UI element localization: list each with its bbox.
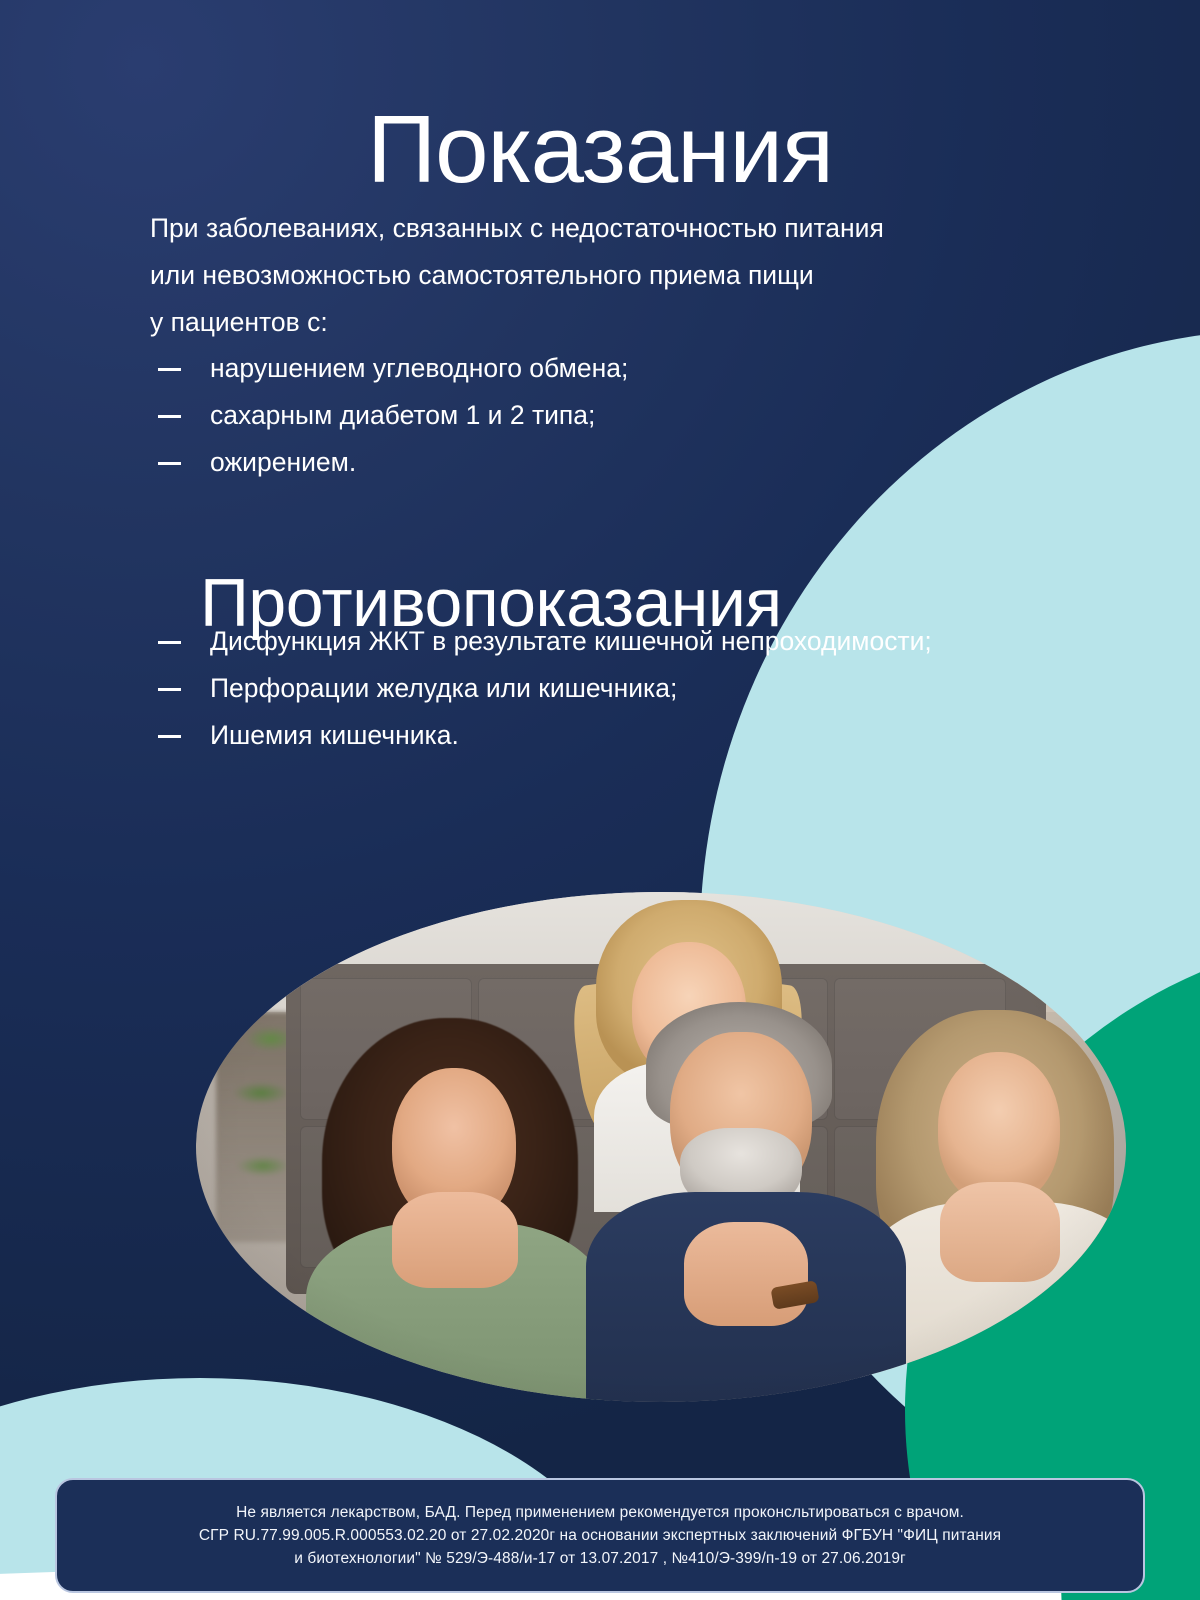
dash-bullet-icon	[158, 415, 181, 418]
dash-bullet-icon	[158, 462, 181, 465]
list-item-label: ожирением.	[210, 447, 356, 477]
list-item: Ишемия кишечника.	[150, 712, 1050, 759]
content-layer: Показания При заболеваниях, связанных с …	[0, 0, 1200, 1600]
indications-list: нарушением углеводного обмена; сахарным …	[150, 345, 1050, 486]
lead-line-2: или невозможностью самостоятельного прие…	[150, 252, 1110, 299]
list-item: нарушением углеводного обмена;	[150, 345, 1050, 392]
list-item: сахарным диабетом 1 и 2 типа;	[150, 392, 1050, 439]
poster-root: Показания При заболеваниях, связанных с …	[0, 0, 1200, 1600]
list-item: Дисфункция ЖКТ в результате кишечной неп…	[150, 618, 1050, 665]
disclaimer-line-2: СГР RU.77.99.005.R.000553.02.20 от 27.02…	[199, 1524, 1001, 1547]
list-item-label: сахарным диабетом 1 и 2 типа;	[210, 400, 595, 430]
list-item-label: Перфорации желудка или кишечника;	[210, 673, 677, 703]
dash-bullet-icon	[158, 735, 181, 738]
list-item-label: Ишемия кишечника.	[210, 720, 459, 750]
page-title: Показания	[0, 102, 1200, 198]
dash-bullet-icon	[158, 688, 181, 691]
dash-bullet-icon	[158, 368, 181, 371]
disclaimer-line-1: Не является лекарством, БАД. Перед приме…	[236, 1501, 964, 1524]
contraindications-list: Дисфункция ЖКТ в результате кишечной неп…	[150, 618, 1050, 759]
list-item-label: Дисфункция ЖКТ в результате кишечной неп…	[210, 626, 932, 656]
list-item-label: нарушением углеводного обмена;	[210, 353, 628, 383]
list-item: ожирением.	[150, 439, 1050, 486]
lead-line-3: у пациентов с:	[150, 299, 1110, 346]
dash-bullet-icon	[158, 641, 181, 644]
disclaimer-line-3: и биотехнологии" № 529/Э-488/и-17 от 13.…	[294, 1547, 906, 1570]
lead-line-1: При заболеваниях, связанных с недостаточ…	[150, 205, 1110, 252]
list-item: Перфорации желудка или кишечника;	[150, 665, 1050, 712]
disclaimer-box: Не является лекарством, БАД. Перед приме…	[55, 1478, 1145, 1593]
lead-paragraph: При заболеваниях, связанных с недостаточ…	[150, 205, 1110, 346]
